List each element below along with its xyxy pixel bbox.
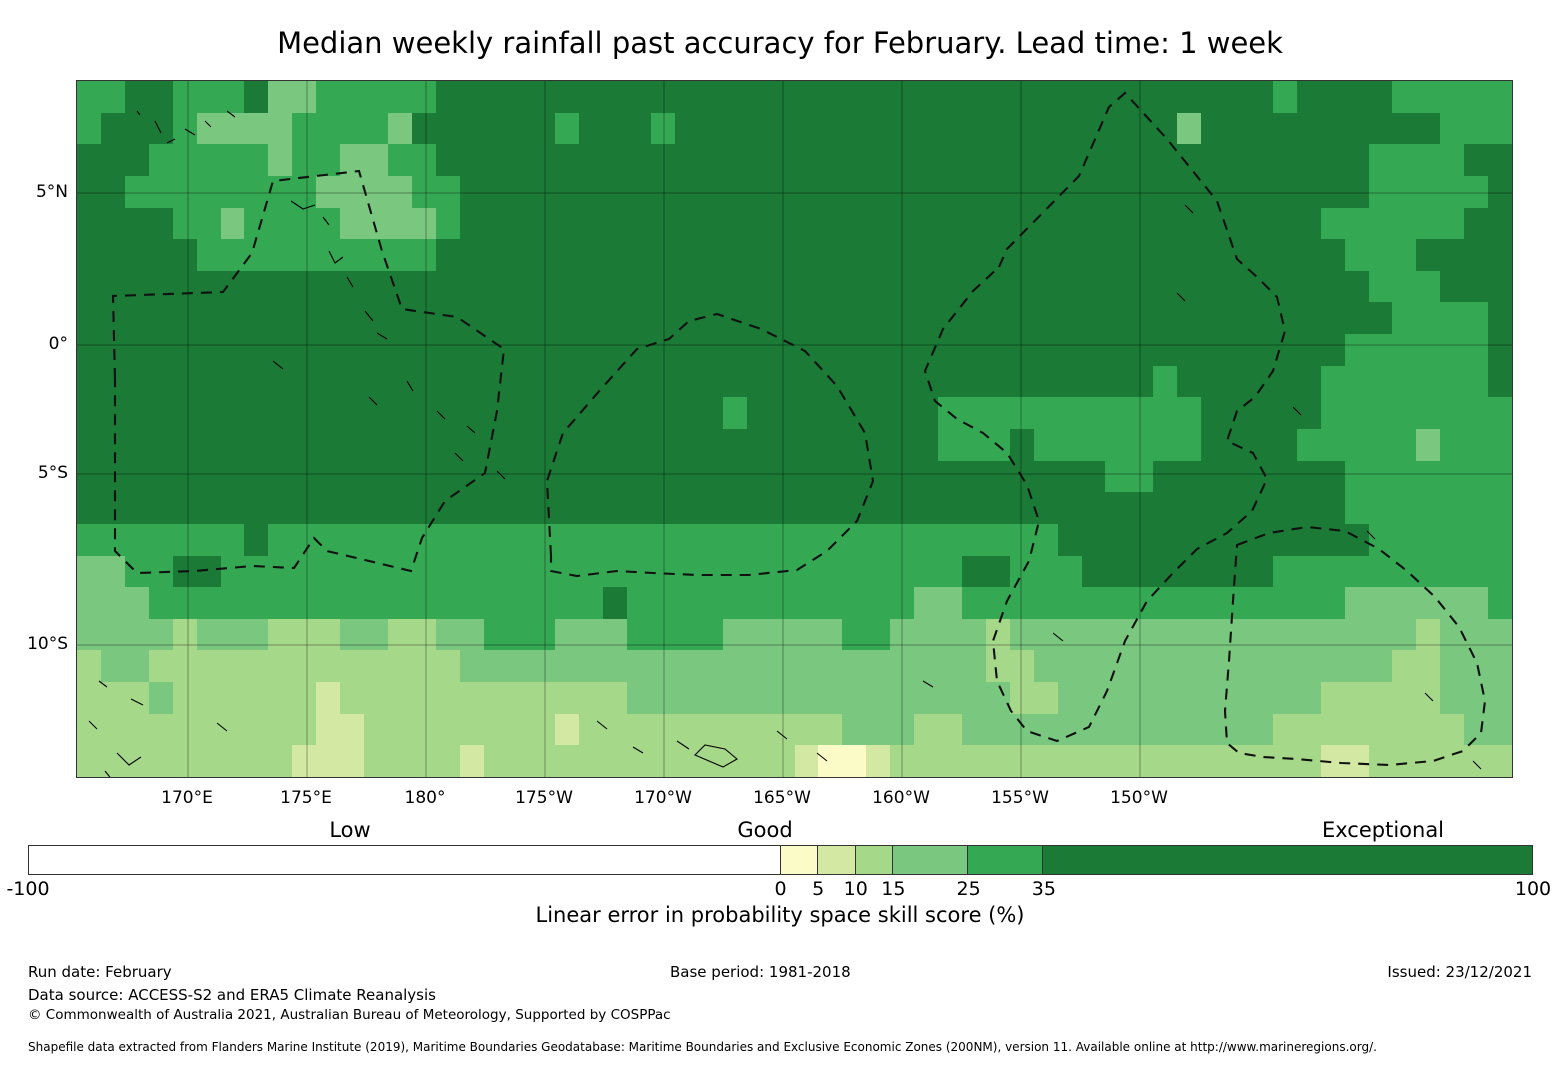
colorbar (28, 845, 1533, 875)
footer-shapefile-attribution: Shapefile data extracted from Flanders M… (28, 1040, 1377, 1054)
colorbar-gradient (28, 845, 1533, 875)
colorbar-segment (893, 846, 968, 874)
colorbar-quality-label: Exceptional (1322, 818, 1444, 842)
page-title: Median weekly rainfall past accuracy for… (0, 26, 1560, 60)
y-tick-label: 0° (6, 334, 68, 354)
coastline-group (89, 111, 1481, 777)
eez-boundary-southeast (1225, 527, 1485, 765)
x-tick-label: 160°W (872, 788, 930, 808)
x-tick-label: 175°W (515, 788, 573, 808)
x-tick-label: 165°W (753, 788, 811, 808)
y-tick-label: 5°S (6, 463, 68, 483)
colorbar-segment (1043, 846, 1531, 874)
footer-run-date: Run date: February (28, 963, 172, 981)
y-tick-label: 5°N (6, 182, 68, 202)
colorbar-tick-label: 35 (1032, 878, 1056, 900)
colorbar-axis-label: Linear error in probability space skill … (0, 903, 1560, 927)
colorbar-tick-label: 10 (844, 878, 868, 900)
colorbar-segment (781, 846, 819, 874)
colorbar-tick-label: 25 (957, 878, 981, 900)
colorbar-segment (968, 846, 1043, 874)
x-tick-label: 150°W (1110, 788, 1168, 808)
x-tick-label: 180° (405, 788, 446, 808)
eez-boundary-vanuatu (113, 171, 504, 573)
colorbar-tick-label: 100 (1515, 878, 1551, 900)
eez-boundary-fiji (547, 314, 873, 576)
colorbar-tick-label: 15 (881, 878, 905, 900)
map-plot-area (76, 80, 1513, 778)
footer-issued-date: Issued: 23/12/2021 (1387, 963, 1532, 981)
eez-boundary-northeast (925, 93, 1285, 741)
colorbar-quality-label: Good (737, 818, 792, 842)
x-tick-label: 155°W (991, 788, 1049, 808)
coastline-islands (89, 111, 1481, 777)
y-tick-label: 10°S (6, 634, 68, 654)
colorbar-quality-label: Low (329, 818, 370, 842)
colorbar-tick-label: -100 (6, 878, 49, 900)
colorbar-segment (29, 846, 781, 874)
footer-data-source: Data source: ACCESS-S2 and ERA5 Climate … (28, 986, 436, 1004)
x-tick-label: 175°E (280, 788, 332, 808)
footer-copyright: © Commonwealth of Australia 2021, Austra… (28, 1007, 671, 1023)
x-tick-label: 170°W (634, 788, 692, 808)
x-tick-label: 170°E (161, 788, 213, 808)
colorbar-tick-label: 0 (774, 878, 786, 900)
colorbar-tick-label: 5 (812, 878, 824, 900)
eez-boundary-group (113, 93, 1485, 765)
footer-base-period: Base period: 1981-2018 (670, 963, 851, 981)
colorbar-segment (856, 846, 894, 874)
map-vector-overlay (77, 81, 1512, 777)
colorbar-segment (818, 846, 856, 874)
